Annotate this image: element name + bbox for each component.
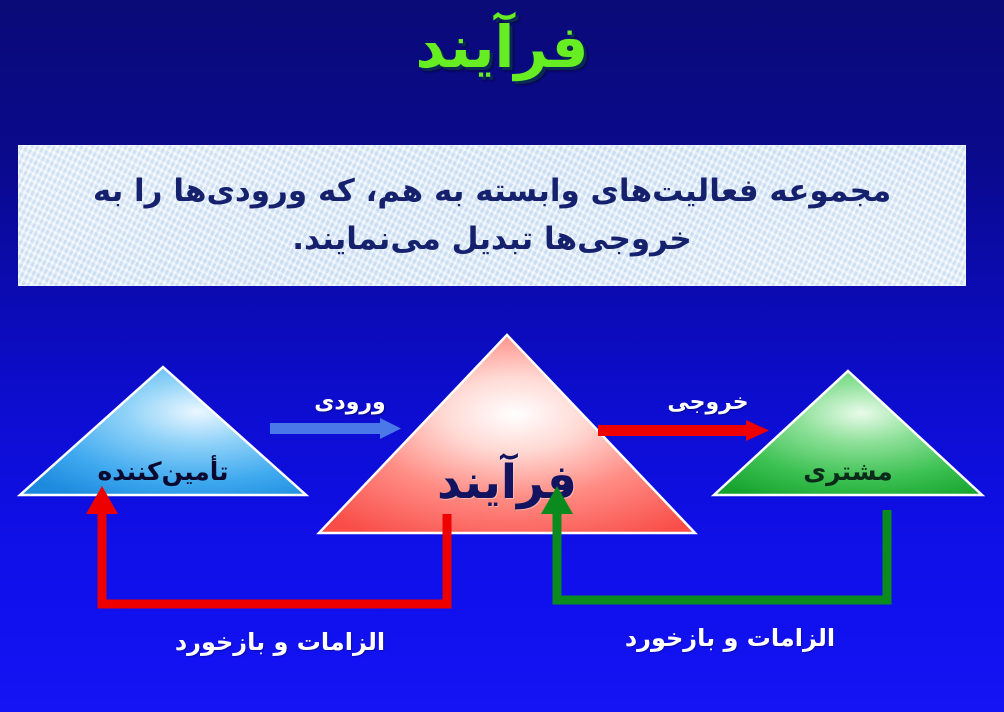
feedback-left-arrow-icon — [80, 480, 480, 620]
feedback-left-label: الزامات و بازخورد — [130, 628, 430, 656]
supplier-triangle-icon — [18, 365, 308, 498]
definition-box: مجموعه فعالیت‌های وابسته به هم، که ورودی… — [18, 145, 966, 286]
output-flow-label: خروجی — [648, 390, 768, 415]
feedback-right-arrow-icon — [530, 480, 930, 620]
node-supplier[interactable]: تأمین‌کننده — [18, 365, 308, 498]
output-arrow-icon — [598, 420, 770, 442]
feedback-right-label: الزامات و بازخورد — [570, 624, 890, 652]
slide-canvas: فرآیند مجموعه فعالیت‌های وابسته به هم، ک… — [0, 0, 1004, 712]
input-flow-label: ورودی — [300, 390, 400, 415]
definition-text: مجموعه فعالیت‌های وابسته به هم، که ورودی… — [52, 167, 932, 263]
input-arrow-icon — [270, 418, 402, 440]
page-title: فرآیند — [0, 16, 1004, 80]
